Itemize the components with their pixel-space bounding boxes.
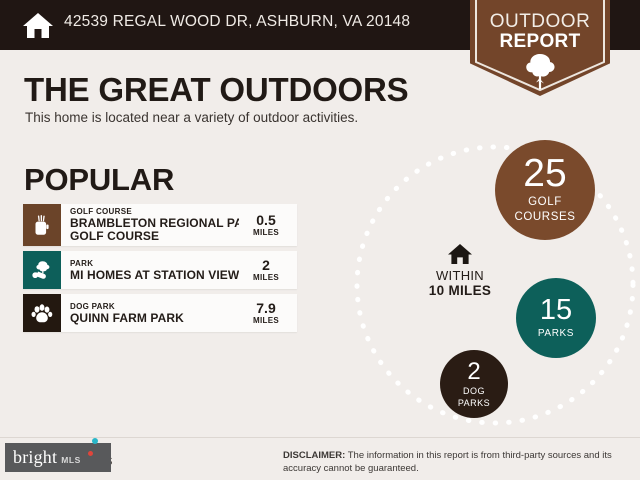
stat-circle-golf-courses: 25 GOLF COURSES: [495, 140, 595, 240]
stat-circle-dog-parks: 2 DOG PARKS: [440, 350, 508, 418]
stat-label-line1: GOLF: [528, 196, 562, 209]
home-icon: [22, 9, 54, 41]
stat-label-line1: PARKS: [538, 328, 574, 339]
page-subtitle: This home is located near a variety of o…: [25, 110, 358, 125]
poi-distance-unit: MILES: [253, 316, 279, 326]
within-label-line1: WITHIN: [413, 268, 507, 283]
home-icon: [447, 242, 473, 266]
logo-wordmark: bright: [5, 447, 57, 468]
poi-text: GOLF COURSE BRAMBLETON REGIONAL PARK GOL…: [61, 204, 239, 246]
stat-label-line2: PARKS: [458, 398, 490, 408]
list-item[interactable]: PARK MI HOMES AT STATION VIEW 2 MILES: [23, 251, 297, 289]
poi-category: PARK: [70, 259, 239, 269]
stat-label-line1: DOG: [463, 386, 485, 396]
within-label-line2: 10 MILES: [413, 283, 507, 298]
poi-distance-value: 7.9: [256, 301, 275, 316]
property-address: 42539 REGAL WOOD DR, ASHBURN, VA 20148: [64, 13, 410, 31]
poi-distance-unit: MILES: [253, 273, 279, 283]
poi-icon-tile: [23, 204, 61, 246]
badge-title-line1: OUTDOOR: [470, 11, 610, 33]
poi-distance: 0.5 MILES: [239, 204, 297, 246]
disclaimer: DISCLAIMER: The information in this repo…: [283, 450, 628, 475]
paw-print-icon: [31, 303, 53, 324]
poi-distance: 7.9 MILES: [239, 294, 297, 332]
disclaimer-label: DISCLAIMER:: [283, 450, 345, 461]
list-item[interactable]: GOLF COURSE BRAMBLETON REGIONAL PARK GOL…: [23, 204, 297, 246]
golf-bag-icon: [32, 214, 52, 236]
poi-category: DOG PARK: [70, 302, 239, 312]
poi-distance-value: 0.5: [256, 213, 275, 228]
outdoor-report-page: 42539 REGAL WOOD DR, ASHBURN, VA 20148 O…: [0, 0, 640, 480]
stat-value: 25: [523, 155, 566, 193]
poi-name-line2: GOLF COURSE: [70, 230, 239, 243]
logo-suffix: MLS: [57, 450, 81, 465]
poi-distance-value: 2: [262, 258, 270, 273]
popular-heading: POPULAR: [24, 162, 174, 198]
stat-circle-parks: 15 PARKS: [516, 278, 596, 358]
park-tree-icon: [31, 260, 53, 280]
popular-list: GOLF COURSE BRAMBLETON REGIONAL PARK GOL…: [23, 204, 297, 337]
stat-label-line2: COURSES: [514, 211, 575, 224]
tree-icon: [522, 52, 558, 90]
stat-value: 15: [540, 296, 572, 325]
poi-name-line1: MI HOMES AT STATION VIEW: [70, 269, 239, 282]
list-item[interactable]: DOG PARK QUINN FARM PARK 7.9 MILES: [23, 294, 297, 332]
page-title: THE GREAT OUTDOORS: [24, 71, 408, 109]
bright-mls-logo[interactable]: bright MLS: [5, 443, 111, 472]
poi-icon-tile: [23, 294, 61, 332]
stat-value: 2: [467, 360, 480, 384]
badge-title-line2: REPORT: [470, 31, 610, 53]
poi-text: DOG PARK QUINN FARM PARK: [61, 294, 239, 332]
poi-text: PARK MI HOMES AT STATION VIEW: [61, 251, 239, 289]
poi-name-line1: QUINN FARM PARK: [70, 312, 239, 325]
logo-dot-teal-icon: [92, 438, 98, 444]
poi-distance: 2 MILES: [239, 251, 297, 289]
poi-distance-unit: MILES: [253, 228, 279, 238]
poi-icon-tile: [23, 251, 61, 289]
logo-dot-red-icon: [88, 451, 93, 456]
